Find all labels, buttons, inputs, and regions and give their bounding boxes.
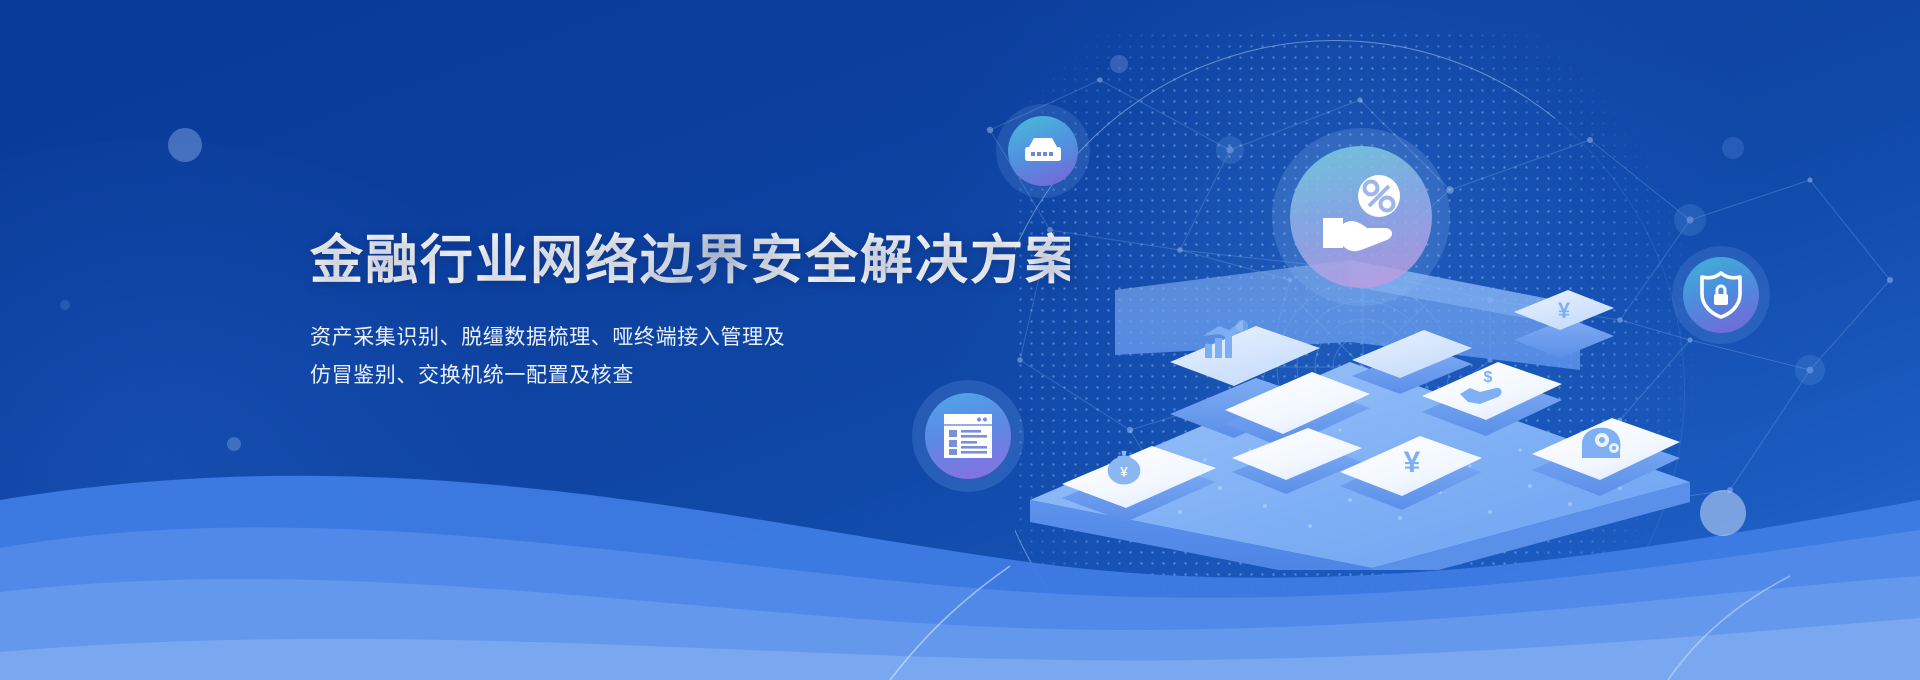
banner-subtitle: 资产采集识别、脱缰数据梳理、哑终端接入管理及 仿冒鉴别、交换机统一配置及核查 [310, 319, 1070, 397]
router-icon-badge[interactable] [996, 104, 1090, 198]
finance-security-banner: ¥ ¥ [0, 0, 1920, 680]
deco-circle-5 [1700, 490, 1746, 536]
hand-percent-icon [1311, 174, 1411, 260]
page-title: 金融行业网络边界安全解决方案 [310, 230, 1070, 293]
deco-circle-6 [1236, 320, 1248, 332]
deco-circle-3 [1722, 137, 1744, 159]
document-list-icon [941, 411, 995, 461]
deco-circle-1 [168, 128, 202, 162]
hand-percent-icon-badge[interactable] [1272, 128, 1450, 306]
deco-circle-7 [60, 300, 70, 310]
shield-lock-icon [1698, 270, 1744, 320]
router-icon [1020, 134, 1066, 168]
subtitle-line-2: 仿冒鉴别、交换机统一配置及核查 [310, 357, 1070, 396]
subtitle-line-1: 资产采集识别、脱缰数据梳理、哑终端接入管理及 [310, 319, 1070, 358]
svg-text:¥: ¥ [1558, 298, 1571, 323]
deco-circle-2 [1110, 55, 1128, 73]
banner-copy: 金融行业网络边界安全解决方案 资产采集识别、脱缰数据梳理、哑终端接入管理及 仿冒… [310, 230, 1070, 396]
shield-lock-icon-badge[interactable] [1672, 246, 1770, 344]
